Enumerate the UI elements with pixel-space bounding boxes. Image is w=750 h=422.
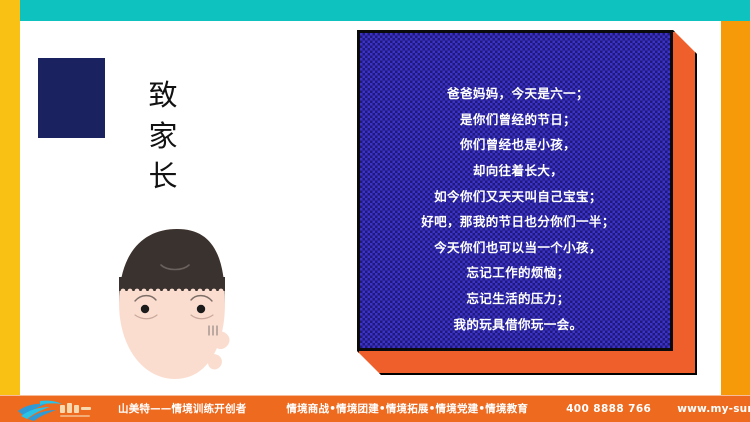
poem-line: 好吧，那我的节日也分你们一半； — [360, 209, 676, 235]
poem-panel: 爸爸妈妈，今天是六一； 是你们曾经的节日； 你们曾经也是小孩， 却向往着长大， … — [357, 30, 697, 375]
navy-decorative-square — [38, 58, 105, 138]
logo-wordmark — [60, 403, 91, 417]
poem-line: 今天你们也可以当一个小孩， — [360, 235, 676, 261]
left-yellow-accent-bar — [0, 0, 20, 422]
footer-phone-number[interactable]: 400 8888 766 — [566, 403, 651, 415]
poem-line: 如今你们又天天叫自己宝宝； — [360, 184, 676, 210]
poem-line: 忘记工作的烦恼； — [360, 260, 676, 286]
right-orange-accent-bar — [721, 21, 750, 398]
page-title-char-1: 致 — [140, 76, 186, 117]
page-title-char-2: 家 — [140, 117, 186, 158]
footer-website-link[interactable]: www.my-summit.com — [677, 403, 750, 415]
poem-line: 忘记生活的压力； — [360, 286, 676, 312]
company-logo-icon — [16, 395, 104, 422]
child-face-illustration — [113, 219, 241, 391]
company-logo — [16, 395, 104, 422]
hair-scallop-group — [121, 289, 224, 294]
poem-line: 是你们曾经的节日； — [360, 107, 676, 133]
page-title-char-3: 长 — [140, 157, 186, 198]
poem-line: 我的玩具借你玩一会。 — [360, 312, 676, 338]
slide-canvas: 致 家 长 — [0, 0, 750, 422]
poem-text-block: 爸爸妈妈，今天是六一； 是你们曾经的节日； 你们曾经也是小孩， 却向往着长大， … — [360, 81, 676, 337]
footer-content: 山美特——情境训练开创者 情境商战•情境团建•情境拓展•情境党建•情境教育 40… — [0, 395, 750, 422]
child-face-svg — [113, 219, 241, 391]
page-title: 致 家 长 — [140, 76, 186, 198]
poem-line: 却向往着长大， — [360, 158, 676, 184]
eye-right — [197, 305, 205, 313]
footer-brand-text: 山美特——情境训练开创者 — [118, 401, 246, 416]
poem-line: 爸爸妈妈，今天是六一； — [360, 81, 676, 107]
top-teal-accent-bar — [20, 0, 750, 21]
eye-left — [141, 305, 149, 313]
logo-wave-group — [18, 401, 62, 421]
poem-panel-face: 爸爸妈妈，今天是六一； 是你们曾经的节日； 你们曾经也是小孩， 却向往着长大， … — [357, 30, 673, 351]
poem-line: 你们曾经也是小孩， — [360, 132, 676, 158]
footer-bar: 山美特——情境训练开创者 情境商战•情境团建•情境拓展•情境党建•情境教育 40… — [0, 395, 750, 422]
footer-services-text: 情境商战•情境团建•情境拓展•情境党建•情境教育 — [286, 401, 528, 416]
